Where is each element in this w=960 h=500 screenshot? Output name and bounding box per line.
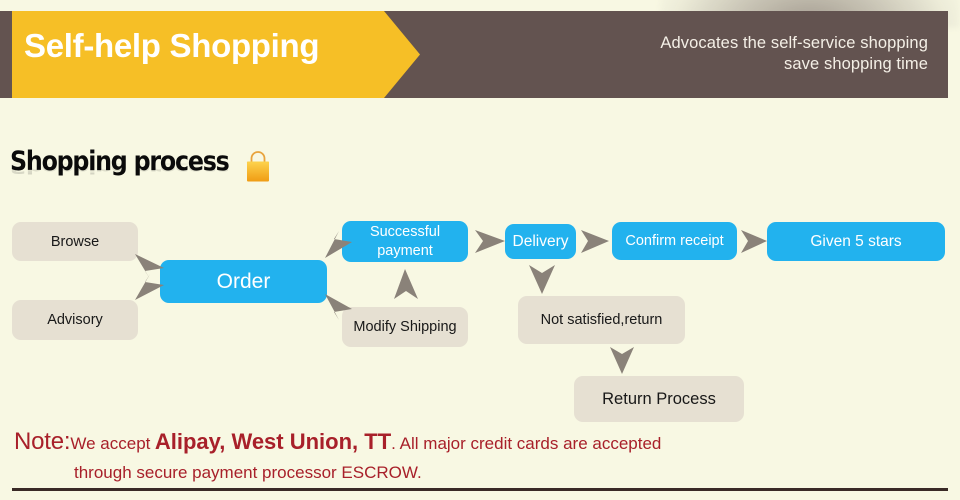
flow-node-delivery[interactable]: Delivery xyxy=(505,224,576,259)
payment-note-methods: Alipay, West Union, TT xyxy=(155,429,391,454)
payment-note-line-2: through secure payment processor ESCROW. xyxy=(14,459,914,488)
flow-node-successful-payment[interactable]: Successful payment xyxy=(342,221,468,262)
flow-node-return-process-label: Return Process xyxy=(602,390,716,409)
payment-note: Note:We accept Alipay, West Union, TT. A… xyxy=(14,428,914,488)
flow-node-return-process[interactable]: Return Process xyxy=(574,376,744,422)
flow-node-order-label: Order xyxy=(217,270,271,294)
flow-node-confirm-receipt[interactable]: Confirm receipt xyxy=(612,222,737,260)
poster-canvas: Advocates the self-service shopping save… xyxy=(0,0,960,500)
header-tagline-line-1: Advocates the self-service shopping xyxy=(408,33,928,54)
arrow-not-satisfied-to-return-process xyxy=(608,345,636,375)
arrow-delivery-to-confirm-receipt xyxy=(580,228,610,255)
arrow-modify-shipping-to-successful-payment xyxy=(390,268,420,304)
flow-node-modify-shipping[interactable]: Modify Shipping xyxy=(342,307,468,347)
payment-note-line-2-text: through secure payment processor ESCROW. xyxy=(74,463,422,482)
arrow-confirm-receipt-to-given-5-stars xyxy=(740,228,768,255)
flow-node-not-satisfied-return[interactable]: Not satisfied,return xyxy=(518,296,685,344)
payment-note-lead: Note: xyxy=(14,428,70,455)
flow-node-successful-payment-label: Successful payment xyxy=(370,223,440,261)
flow-node-not-satisfied-return-label: Not satisfied,return xyxy=(541,312,663,328)
section-heading-label: Shopping process xyxy=(10,146,229,178)
bottom-divider xyxy=(12,488,948,491)
flow-node-delivery-label: Delivery xyxy=(513,233,569,251)
header-tagline-line-2: save shopping time xyxy=(408,54,928,75)
flow-node-advisory[interactable]: Advisory xyxy=(12,300,138,340)
payment-note-tail: . All major credit cards are accepted xyxy=(391,434,661,453)
flow-node-browse[interactable]: Browse xyxy=(12,222,138,261)
payment-note-line-1: Note:We accept Alipay, West Union, TT. A… xyxy=(14,428,914,459)
header-tagline: Advocates the self-service shopping save… xyxy=(408,33,928,75)
payment-note-we-accept: We accept xyxy=(70,434,150,453)
flow-node-advisory-label: Advisory xyxy=(47,312,103,328)
flow-node-modify-shipping-label: Modify Shipping xyxy=(353,319,456,335)
flow-node-browse-label: Browse xyxy=(51,234,99,250)
arrow-successful-payment-to-delivery xyxy=(474,228,506,255)
shopping-bag-icon xyxy=(243,150,273,184)
page-title: Self-help Shopping xyxy=(24,27,319,65)
flow-node-successful-payment-line-1: Successful xyxy=(370,224,440,240)
flow-node-successful-payment-line-2: payment xyxy=(377,243,433,259)
section-heading: Shopping process Shopping process xyxy=(10,146,258,198)
header: Advocates the self-service shopping save… xyxy=(0,0,960,110)
flow-node-order[interactable]: Order xyxy=(160,260,327,303)
arrow-delivery-to-not-satisfied xyxy=(527,262,557,295)
flow-node-confirm-receipt-label: Confirm receipt xyxy=(625,233,723,249)
flow-node-given-5-stars-label: Given 5 stars xyxy=(810,233,901,251)
flow-node-given-5-stars[interactable]: Given 5 stars xyxy=(767,222,945,261)
